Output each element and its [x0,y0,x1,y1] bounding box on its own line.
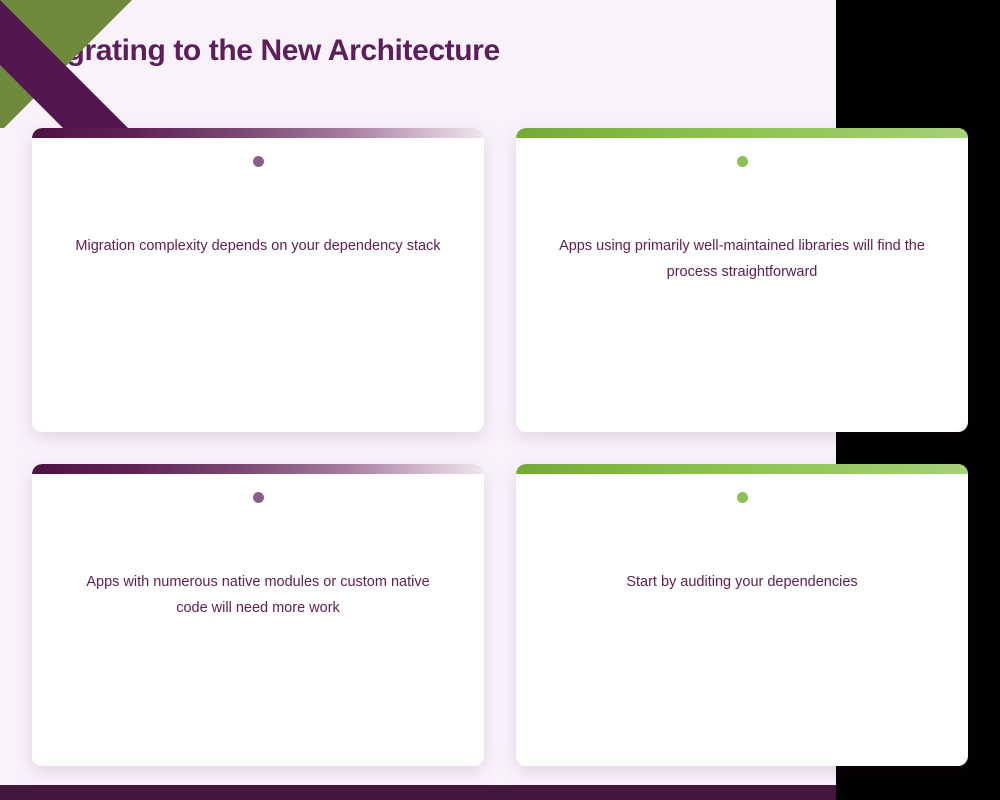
bullet-dot-icon [737,156,748,167]
card-text: Apps using primarily well-maintained lib… [529,234,955,286]
card-accent-bar [32,128,484,138]
card-accent-bar [516,128,968,138]
bullet-dot-icon [253,156,264,167]
card-body: Migration complexity depends on your dep… [32,138,484,432]
card-2[interactable]: Apps using primarily well-maintained lib… [516,128,968,432]
card-accent-bar [516,464,968,474]
card-4[interactable]: Start by auditing your dependencies [516,464,968,766]
card-body: Apps using primarily well-maintained lib… [516,138,968,432]
footer-bar [0,785,836,800]
slide-surface: Migrating to the New Architecture Migrat… [0,0,836,785]
bullet-dot-icon [253,492,264,503]
card-text: Migration complexity depends on your dep… [47,234,468,260]
card-text: Apps with numerous native modules or cus… [45,570,471,622]
card-accent-bar [32,464,484,474]
card-body: Start by auditing your dependencies [516,474,968,766]
card-3[interactable]: Apps with numerous native modules or cus… [32,464,484,766]
card-body: Apps with numerous native modules or cus… [32,474,484,766]
bullet-dot-icon [737,492,748,503]
page-title: Migrating to the New Architecture [34,34,500,68]
card-text: Start by auditing your dependencies [598,570,885,596]
card-1[interactable]: Migration complexity depends on your dep… [32,128,484,432]
